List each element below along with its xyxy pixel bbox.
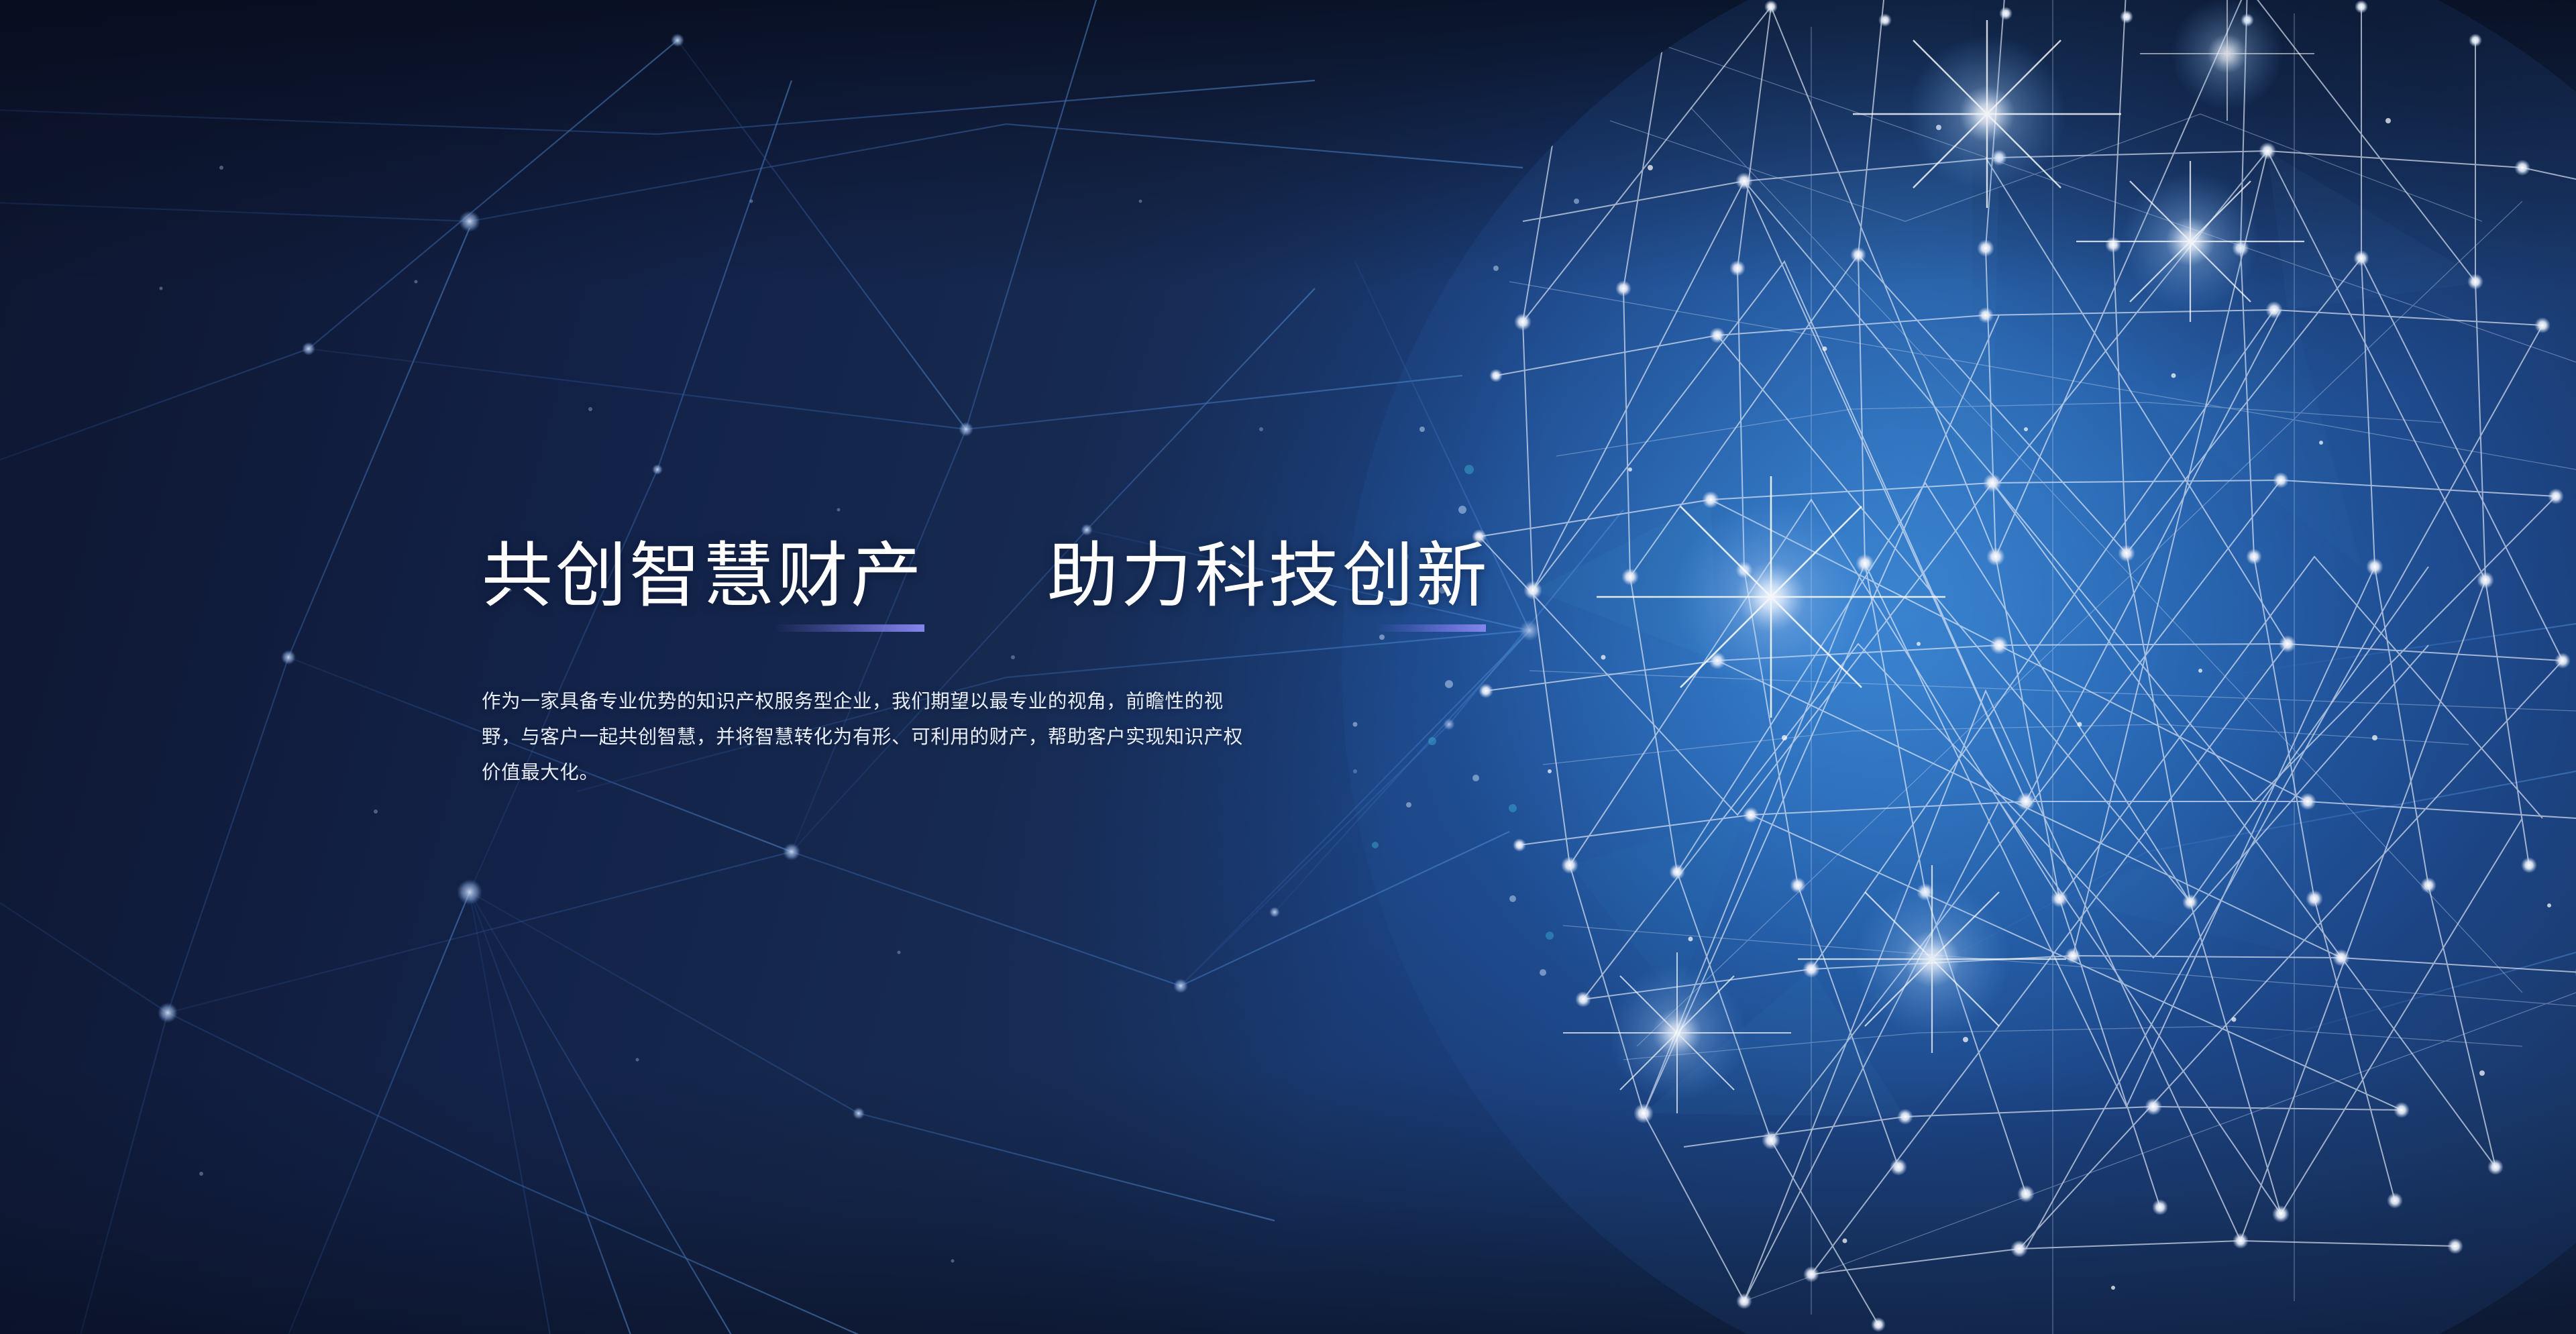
page-title: 共创智慧财产 助力科技创新	[482, 537, 1474, 616]
headline-segment-2-text: 助力科技创新	[1047, 537, 1490, 616]
headline-segment-2: 助力科技创新	[1047, 537, 1490, 616]
headline-segment-1: 共创智慧财产	[482, 537, 924, 616]
hero-banner: 共创智慧财产 助力科技创新 作为一家具备专业优势的知识产权服务型企业，我们期望以…	[0, 0, 2576, 1334]
headline-underline-1	[773, 624, 924, 632]
headline-segment-1-text: 共创智慧财产	[482, 537, 924, 616]
hero-description: 作为一家具备专业优势的知识产权服务型企业，我们期望以最专业的视角，前瞻性的视野，…	[482, 684, 1246, 791]
headline-underline-2	[1375, 624, 1486, 632]
hero-text-block: 共创智慧财产 助力科技创新 作为一家具备专业优势的知识产权服务型企业，我们期望以…	[482, 537, 1474, 791]
